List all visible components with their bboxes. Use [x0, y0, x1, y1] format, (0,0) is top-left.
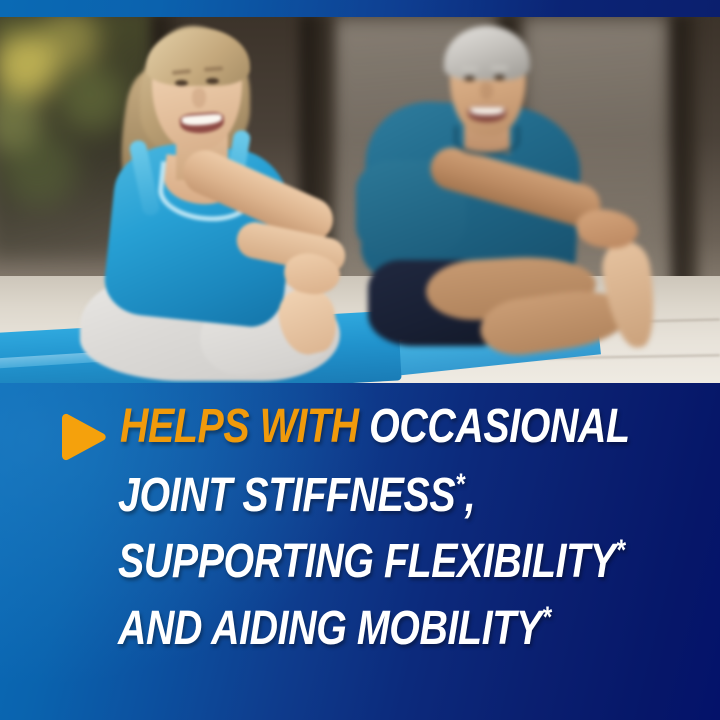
headline-line-2-comma: ,	[465, 469, 476, 522]
footnote-asterisk: *	[542, 601, 551, 634]
headline-line-1-rest: OCCASIONAL	[369, 400, 629, 453]
man-hair	[444, 26, 530, 80]
woman-nose	[192, 88, 206, 108]
man-nose	[480, 82, 493, 100]
man-stretching-figure	[368, 14, 698, 374]
headline-line-3-text: SUPPORTING FLEXIBILITY	[118, 535, 616, 588]
woman-eye	[175, 80, 188, 86]
man-mouth	[468, 106, 506, 122]
headline-line-1: HELPS WITH OCCASIONAL	[120, 403, 630, 451]
woman-stretching-figure	[40, 18, 370, 368]
man-eyebrow	[461, 67, 478, 71]
footnote-asterisk: *	[455, 468, 464, 501]
headline-panel: HELPS WITH OCCASIONAL JOINT STIFFNESS*, …	[0, 383, 720, 720]
man-eye	[464, 76, 475, 81]
top-accent-strip	[0, 0, 720, 17]
man-eye	[494, 75, 505, 80]
headline-text-block: HELPS WITH OCCASIONAL JOINT STIFFNESS*, …	[0, 383, 720, 720]
headline-line-2-text: JOINT STIFFNESS	[118, 469, 455, 522]
footnote-asterisk: *	[616, 534, 625, 567]
headline-line-3: SUPPORTING FLEXIBILITY*	[118, 536, 625, 586]
hero-photo	[0, 0, 720, 386]
man-teeth	[470, 107, 504, 115]
headline-highlight-text: HELPS WITH	[120, 400, 359, 453]
headline-line-4: AND AIDING MOBILITY*	[118, 603, 551, 653]
woman-eye	[206, 78, 219, 84]
promo-banner: HELPS WITH OCCASIONAL JOINT STIFFNESS*, …	[0, 0, 720, 720]
headline-line-2: JOINT STIFFNESS*,	[118, 470, 475, 520]
man-eyebrow	[491, 66, 508, 70]
woman-hair-front	[146, 28, 250, 86]
woman-teeth	[181, 114, 222, 127]
headline-line-4-text: AND AIDING MOBILITY	[118, 602, 542, 655]
